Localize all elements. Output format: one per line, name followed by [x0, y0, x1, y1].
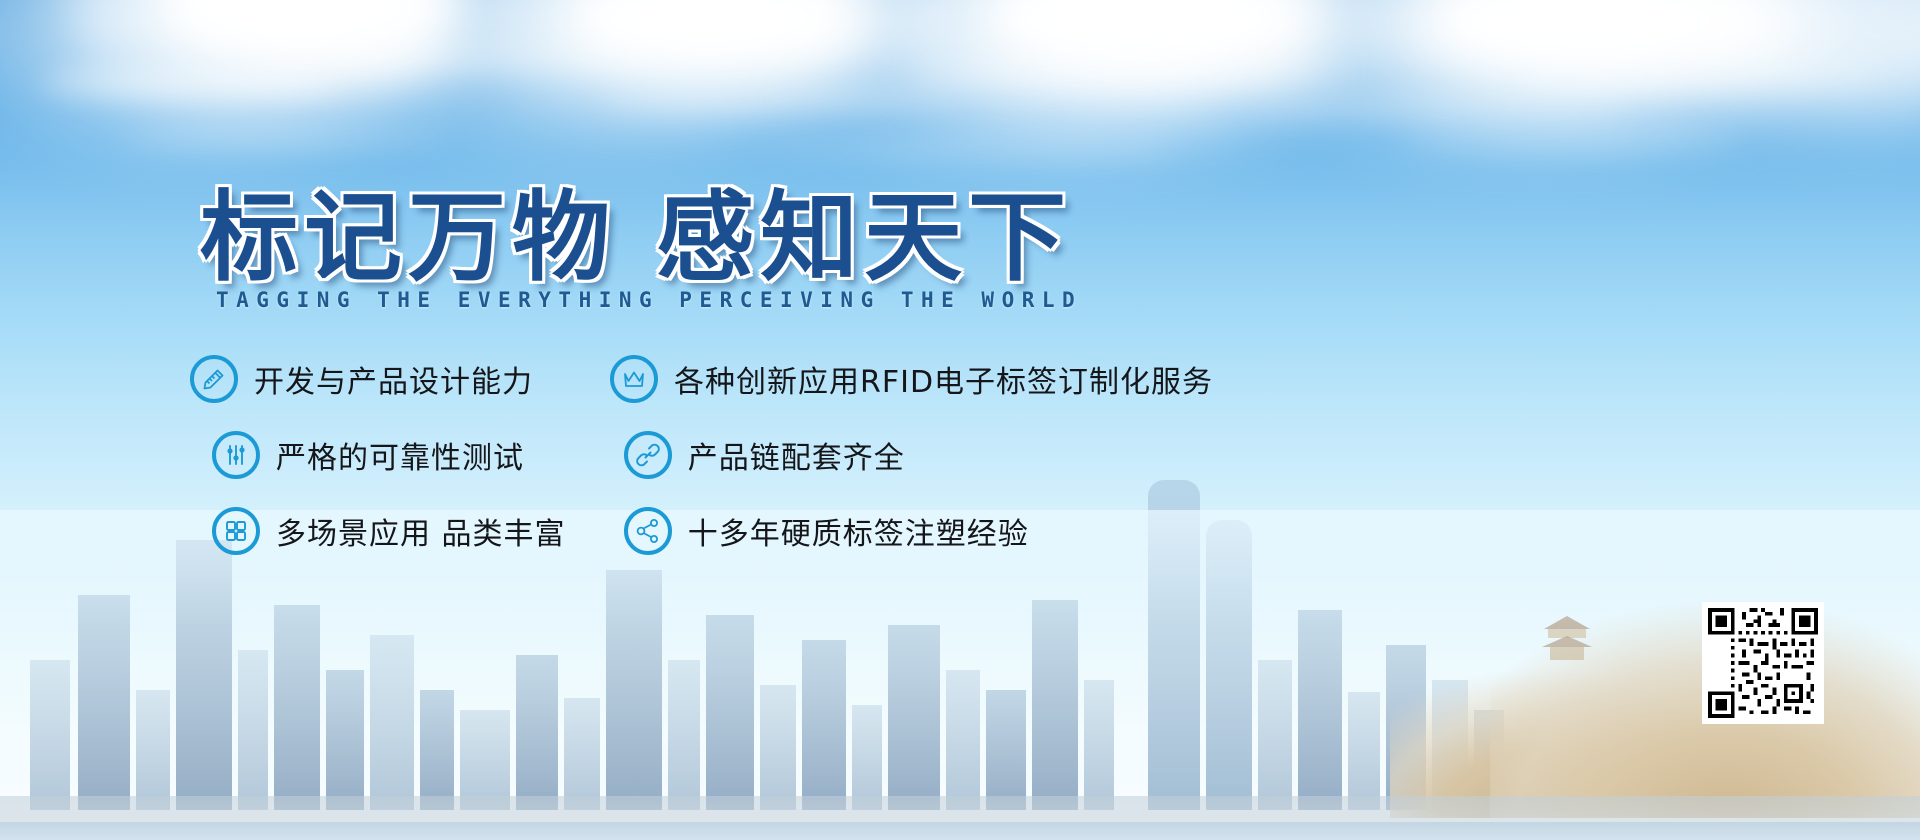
page-title: 标记万物 感知天下 — [200, 158, 1072, 300]
feature-label: 产品链配套齐全 — [688, 433, 905, 477]
crown-icon — [610, 355, 658, 403]
promotional-banner: 标记万物 感知天下 TAGGING THE EVERYTHING PERCEIV… — [0, 0, 1920, 840]
feature-item-experience: 十多年硬质标签注塑经验 — [624, 507, 1310, 555]
link-icon — [624, 431, 672, 479]
ruler-pencil-icon — [190, 355, 238, 403]
feature-row: 严格的可靠性测试 产品链配套齐全 — [190, 431, 1310, 479]
feature-label: 十多年硬质标签注塑经验 — [688, 509, 1029, 553]
feature-label: 严格的可靠性测试 — [276, 433, 524, 477]
equalizer-icon — [212, 431, 260, 479]
page-subtitle: TAGGING THE EVERYTHING PERCEIVING THE WO… — [216, 288, 1082, 312]
feature-item-supply-chain: 产品链配套齐全 — [624, 431, 1310, 479]
feature-label: 开发与产品设计能力 — [254, 357, 533, 401]
share-nodes-icon — [624, 507, 672, 555]
feature-label: 多场景应用 品类丰富 — [276, 509, 566, 553]
feature-item-applications: 多场景应用 品类丰富 — [212, 507, 624, 555]
qr-code[interactable] — [1702, 602, 1824, 724]
feature-label: 各种创新应用RFID电子标签订制化服务 — [674, 357, 1213, 401]
feature-row: 多场景应用 品类丰富 十多年硬 — [190, 507, 1310, 555]
feature-item-development: 开发与产品设计能力 — [190, 355, 610, 403]
feature-row: 开发与产品设计能力 各种创新应用RFID电子标签订制化服务 — [190, 355, 1310, 403]
feature-item-rfid-service: 各种创新应用RFID电子标签订制化服务 — [610, 355, 1310, 403]
feature-list: 开发与产品设计能力 各种创新应用RFID电子标签订制化服务 — [190, 355, 1310, 583]
grid-icon — [212, 507, 260, 555]
feature-item-reliability-test: 严格的可靠性测试 — [212, 431, 624, 479]
